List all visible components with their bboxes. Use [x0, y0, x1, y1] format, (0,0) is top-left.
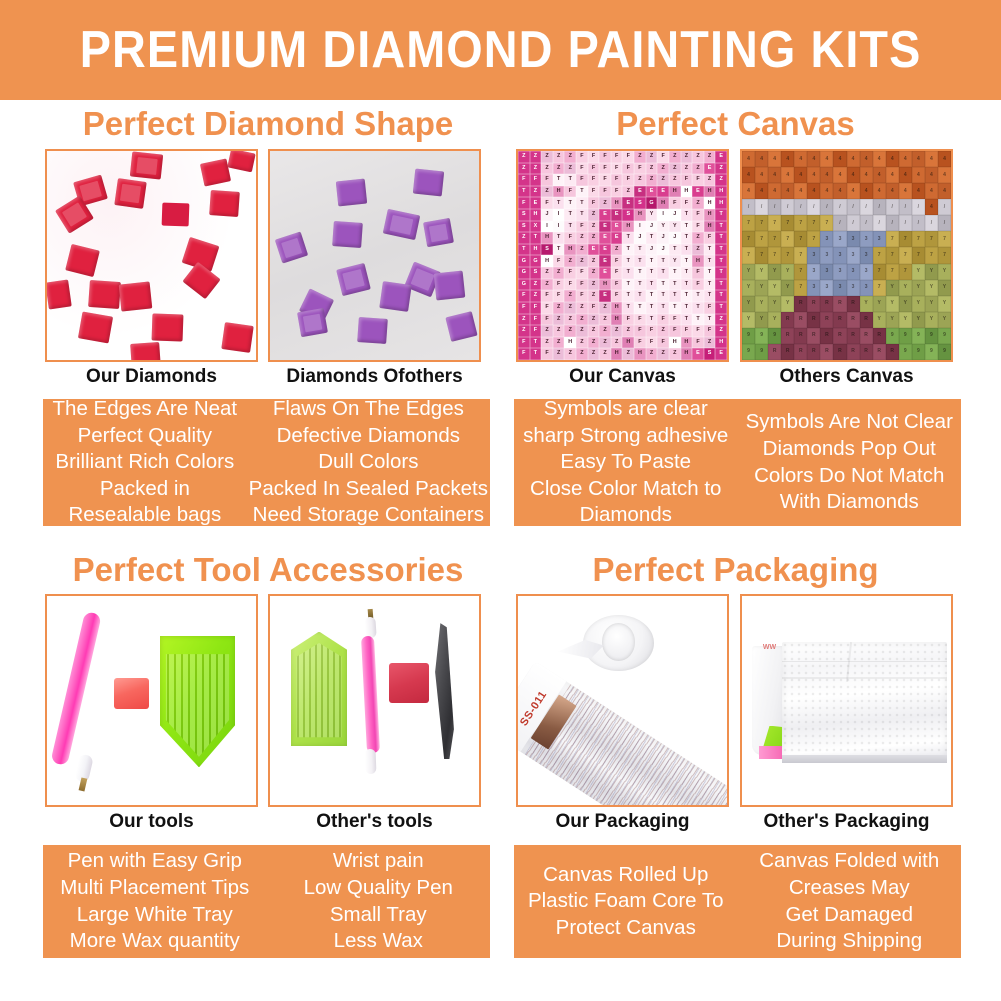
panel-line: With Diamonds	[780, 489, 919, 516]
canvas-symbol-cell: F	[611, 267, 623, 279]
pink-symbol-canvas-photo: ZZZZZFFFFFZZFZZZZEZZZZZFFFFFFZZZZZEZFFFT…	[518, 151, 727, 360]
caption-other-tools: Other's tools	[268, 811, 481, 833]
canvas-symbol-cell: Z	[530, 290, 542, 302]
canvas-symbol-cell: Z	[518, 151, 530, 163]
canvas-symbol-cell: H	[611, 348, 623, 360]
canvas-symbol-cell: F	[530, 174, 542, 186]
canvas-symbol-cell: 3	[847, 264, 860, 280]
canvas-symbol-cell: 3	[807, 247, 820, 263]
canvas-symbol-cell: Y	[925, 312, 938, 328]
canvas-symbol-cell: F	[541, 290, 553, 302]
canvas-symbol-cell: J	[541, 209, 553, 221]
canvas-symbol-cell: E	[715, 348, 727, 360]
canvas-symbol-cell: 4	[820, 151, 833, 167]
caption-our-tools: Our tools	[45, 811, 258, 833]
canvas-symbol-cell: Z	[646, 348, 658, 360]
canvas-symbol-cell: Y	[669, 221, 681, 233]
canvas-symbol-cell: Y	[755, 312, 768, 328]
canvas-symbol-cell: F	[553, 279, 565, 291]
canvas-symbol-cell: /	[833, 215, 846, 231]
canvas-symbol-cell: 7	[755, 247, 768, 263]
canvas-symbol-cell: Y	[938, 280, 951, 296]
canvas-symbol-cell: T	[646, 232, 658, 244]
panel-line: Need Storage Containers	[253, 502, 484, 529]
canvas-symbol-cell: H	[622, 221, 634, 233]
canvas-symbol-cell: F	[541, 302, 553, 314]
canvas-symbol-cell: 4	[860, 151, 873, 167]
canvas-symbol-cell: H	[564, 337, 576, 349]
canvas-symbol-cell: Y	[742, 264, 755, 280]
canvas-symbol-cell: Z	[541, 163, 553, 175]
panel-line: Wrist pain	[333, 848, 424, 875]
canvas-symbol-cell: T	[715, 279, 727, 291]
canvas-symbol-cell: E	[704, 163, 716, 175]
canvas-symbol-cell: T	[646, 314, 658, 326]
canvas-symbol-cell: F	[553, 290, 565, 302]
panel-line: During Shipping	[776, 928, 922, 955]
canvas-symbol-cell: 9	[768, 328, 781, 344]
canvas-symbol-cell: T	[669, 290, 681, 302]
canvas-symbol-cell: 3	[807, 264, 820, 280]
canvas-symbol-cell: T	[564, 197, 576, 209]
canvas-symbol-cell: 3	[860, 280, 873, 296]
canvas-symbol-cell: T	[715, 267, 727, 279]
canvas-symbol-cell: F	[692, 279, 704, 291]
canvas-symbol-cell: F	[588, 174, 600, 186]
canvas-symbol-cell: 3	[833, 247, 846, 263]
canvas-symbol-cell: T	[564, 221, 576, 233]
canvas-symbol-cell: Y	[768, 264, 781, 280]
canvas-symbol-cell: T	[657, 267, 669, 279]
canvas-symbol-cell: T	[657, 302, 669, 314]
canvas-symbol-cell: T	[646, 302, 658, 314]
canvas-symbol-cell: 4	[873, 183, 886, 199]
canvas-symbol-cell: 4	[742, 183, 755, 199]
canvas-symbol-cell: 3	[860, 247, 873, 263]
canvas-symbol-cell: 4	[873, 151, 886, 167]
canvas-symbol-cell: 7	[742, 215, 755, 231]
canvas-symbol-cell: H	[704, 221, 716, 233]
canvas-symbol-cell: T	[646, 279, 658, 291]
canvas-symbol-cell: H	[681, 186, 693, 198]
canvas-symbol-cell: F	[576, 163, 588, 175]
canvas-symbol-cell: H	[704, 209, 716, 221]
canvas-symbol-cell: T	[704, 267, 716, 279]
canvas-symbol-cell: 7	[873, 247, 886, 263]
canvas-symbol-cell: T	[622, 267, 634, 279]
canvas-symbol-cell: Z	[553, 302, 565, 314]
canvas-symbol-cell: Z	[692, 151, 704, 163]
canvas-symbol-cell: Z	[611, 337, 623, 349]
canvas-symbol-cell: Y	[873, 296, 886, 312]
canvas-symbol-cell: Z	[530, 186, 542, 198]
canvas-symbol-cell: E	[599, 221, 611, 233]
canvas-symbol-cell: /	[768, 199, 781, 215]
canvas-symbol-cell: T	[681, 302, 693, 314]
panel-diamond-shape-theirs: Flaws On The Edges Defective Diamonds Du…	[247, 399, 490, 526]
wax-square-icon	[114, 678, 150, 709]
canvas-symbol-cell: Y	[912, 264, 925, 280]
panel-line: Brilliant Rich Colors	[55, 449, 234, 476]
canvas-symbol-cell: 4	[768, 183, 781, 199]
canvas-symbol-cell: Y	[742, 280, 755, 296]
canvas-symbol-cell: H	[530, 209, 542, 221]
canvas-symbol-cell: Y	[781, 280, 794, 296]
canvas-symbol-cell: Y	[873, 312, 886, 328]
canvas-symbol-cell: F	[576, 279, 588, 291]
canvas-symbol-cell: 7	[768, 215, 781, 231]
canvas-symbol-cell: F	[611, 174, 623, 186]
panel-tools-ours: Pen with Easy Grip Multi Placement Tips …	[43, 845, 267, 958]
canvas-symbol-cell: Z	[553, 314, 565, 326]
canvas-symbol-cell: 7	[899, 264, 912, 280]
canvas-symbol-cell: 3	[847, 280, 860, 296]
canvas-symbol-cell: Z	[564, 314, 576, 326]
canvas-symbol-cell: R	[820, 312, 833, 328]
panel-line: Dull Colors	[318, 449, 418, 476]
canvas-symbol-cell: Z	[588, 314, 600, 326]
canvas-symbol-cell: Z	[588, 209, 600, 221]
canvas-symbol-cell: Z	[622, 186, 634, 198]
canvas-symbol-cell: F	[588, 186, 600, 198]
canvas-symbol-cell: T	[657, 255, 669, 267]
canvas-symbol-cell: /	[925, 215, 938, 231]
canvas-symbol-cell: Z	[576, 244, 588, 256]
canvas-symbol-cell: F	[541, 348, 553, 360]
canvas-symbol-cell: F	[530, 314, 542, 326]
canvas-symbol-cell: T	[715, 290, 727, 302]
canvas-symbol-cell: 4	[847, 183, 860, 199]
canvas-symbol-cell: H	[611, 314, 623, 326]
canvas-symbol-cell: E	[611, 209, 623, 221]
canvas-symbol-cell: R	[820, 328, 833, 344]
canvas-symbol-cell: R	[847, 296, 860, 312]
canvas-symbol-cell: J	[669, 232, 681, 244]
canvas-symbol-cell: F	[669, 325, 681, 337]
image-our-canvas: ZZZZZFFFFFZZFZZZZEZZZZZFFFFFFZZZZZEZFFFT…	[516, 149, 729, 362]
canvas-symbol-cell: Y	[755, 264, 768, 280]
panel-tools-theirs: Wrist pain Low Quality Pen Small Tray Le…	[267, 845, 491, 958]
canvas-symbol-cell: 7	[794, 280, 807, 296]
canvas-symbol-cell: 9	[938, 344, 951, 360]
panel-line: The Edges Are Neat	[53, 396, 238, 423]
canvas-symbol-cell: 4	[807, 151, 820, 167]
canvas-symbol-cell: F	[564, 279, 576, 291]
canvas-symbol-cell: F	[541, 314, 553, 326]
canvas-symbol-cell: T	[681, 221, 693, 233]
canvas-symbol-cell: S	[704, 348, 716, 360]
canvas-symbol-cell: 4	[938, 151, 951, 167]
canvas-symbol-cell: F	[599, 151, 611, 163]
panel-line: Pen with Easy Grip	[68, 848, 242, 875]
canvas-symbol-cell: E	[599, 290, 611, 302]
panel-packaging-ours: Canvas Rolled Up Plastic Foam Core To Pr…	[514, 845, 738, 958]
canvas-symbol-cell: F	[599, 186, 611, 198]
canvas-symbol-cell: J	[657, 232, 669, 244]
canvas-symbol-cell: T	[646, 267, 658, 279]
canvas-symbol-cell: Z	[657, 174, 669, 186]
canvas-symbol-cell: 4	[742, 151, 755, 167]
canvas-symbol-cell: F	[611, 163, 623, 175]
canvas-symbol-cell: Z	[634, 151, 646, 163]
canvas-symbol-cell: I	[553, 209, 565, 221]
canvas-symbol-cell: G	[530, 255, 542, 267]
canvas-symbol-cell: R	[860, 312, 873, 328]
canvas-symbol-cell: F	[530, 302, 542, 314]
canvas-symbol-cell: /	[912, 199, 925, 215]
canvas-symbol-cell: Z	[588, 290, 600, 302]
canvas-symbol-cell: Z	[564, 290, 576, 302]
canvas-symbol-cell: Y	[755, 296, 768, 312]
canvas-symbol-cell: 7	[899, 231, 912, 247]
canvas-symbol-cell: F	[669, 314, 681, 326]
panel-line: Creases May	[789, 875, 910, 902]
canvas-symbol-cell: 4	[781, 183, 794, 199]
canvas-symbol-cell: Y	[925, 264, 938, 280]
canvas-symbol-cell: R	[873, 328, 886, 344]
canvas-symbol-cell: F	[622, 151, 634, 163]
canvas-symbol-cell: Z	[588, 255, 600, 267]
canvas-symbol-cell: 4	[925, 167, 938, 183]
canvas-symbol-cell: 7	[886, 264, 899, 280]
canvas-in-tube-photo: SS-011	[518, 596, 727, 805]
canvas-symbol-cell: F	[576, 174, 588, 186]
canvas-symbol-cell: T	[704, 244, 716, 256]
canvas-symbol-cell: 4	[912, 151, 925, 167]
canvas-symbol-cell: F	[518, 337, 530, 349]
canvas-symbol-cell: 3	[807, 280, 820, 296]
canvas-symbol-cell: E	[530, 197, 542, 209]
purple-square-drills-photo	[270, 151, 479, 360]
canvas-symbol-cell: Y	[742, 296, 755, 312]
canvas-symbol-cell: 7	[781, 215, 794, 231]
canvas-symbol-cell: Z	[692, 197, 704, 209]
canvas-symbol-cell: J	[669, 209, 681, 221]
canvas-symbol-cell: F	[518, 302, 530, 314]
canvas-symbol-cell: F	[564, 186, 576, 198]
canvas-symbol-cell: F	[704, 325, 716, 337]
canvas-symbol-cell: Z	[576, 314, 588, 326]
canvas-symbol-cell: F	[692, 325, 704, 337]
canvas-symbol-cell: Z	[715, 174, 727, 186]
canvas-symbol-cell: 4	[768, 151, 781, 167]
canvas-symbol-cell: 4	[886, 167, 899, 183]
canvas-symbol-cell: R	[860, 328, 873, 344]
canvas-symbol-cell: Z	[553, 163, 565, 175]
canvas-symbol-cell: E	[692, 348, 704, 360]
canvas-symbol-cell: T	[553, 244, 565, 256]
canvas-symbol-cell: T	[530, 232, 542, 244]
canvas-symbol-cell: 7	[768, 231, 781, 247]
canvas-symbol-cell: F	[692, 221, 704, 233]
canvas-symbol-cell: I	[541, 221, 553, 233]
canvas-symbol-cell: 3	[873, 231, 886, 247]
canvas-symbol-cell: F	[634, 337, 646, 349]
canvas-symbol-cell: 4	[938, 167, 951, 183]
canvas-symbol-cell: 7	[794, 247, 807, 263]
panel-line: More Wax quantity	[70, 928, 240, 955]
canvas-symbol-cell: F	[611, 290, 623, 302]
canvas-symbol-cell: Z	[611, 244, 623, 256]
canvas-symbol-cell: 7	[886, 247, 899, 263]
canvas-symbol-cell: H	[553, 186, 565, 198]
canvas-symbol-cell: Z	[622, 325, 634, 337]
canvas-symbol-cell: Y	[886, 312, 899, 328]
canvas-symbol-cell: 7	[794, 231, 807, 247]
canvas-symbol-cell: E	[657, 186, 669, 198]
canvas-symbol-cell: F	[599, 163, 611, 175]
canvas-symbol-cell: /	[873, 215, 886, 231]
canvas-symbol-cell: F	[611, 186, 623, 198]
canvas-symbol-cell: F	[692, 209, 704, 221]
canvas-symbol-cell: 4	[742, 167, 755, 183]
panel-line: Low Quality Pen	[304, 875, 453, 902]
canvas-symbol-cell: R	[807, 296, 820, 312]
canvas-symbol-cell: 9	[899, 328, 912, 344]
canvas-symbol-cell: F	[553, 255, 565, 267]
canvas-symbol-cell: T	[564, 209, 576, 221]
canvas-symbol-cell: T	[518, 186, 530, 198]
canvas-symbol-cell: 7	[755, 215, 768, 231]
canvas-symbol-cell: 7	[886, 231, 899, 247]
canvas-symbol-cell: G	[518, 267, 530, 279]
panel-line: Packed In Sealed Packets	[249, 476, 488, 503]
canvas-symbol-cell: T	[634, 244, 646, 256]
canvas-symbol-cell: E	[599, 244, 611, 256]
canvas-symbol-cell: /	[860, 199, 873, 215]
canvas-symbol-cell: F	[657, 314, 669, 326]
canvas-symbol-cell: Z	[553, 325, 565, 337]
canvas-symbol-cell: H	[704, 197, 716, 209]
canvas-symbol-cell: T	[704, 314, 716, 326]
canvas-symbol-cell: Y	[912, 312, 925, 328]
canvas-symbol-cell: T	[704, 279, 716, 291]
canvas-symbol-cell: 9	[899, 344, 912, 360]
canvas-symbol-cell: I	[553, 221, 565, 233]
canvas-symbol-cell: H	[715, 197, 727, 209]
panel-tools: Pen with Easy Grip Multi Placement Tips …	[43, 845, 490, 958]
canvas-symbol-cell: Z	[715, 314, 727, 326]
canvas-symbol-cell: 3	[820, 231, 833, 247]
canvas-symbol-cell: F	[541, 197, 553, 209]
canvas-symbol-cell: R	[807, 344, 820, 360]
canvas-symbol-cell: Y	[669, 255, 681, 267]
image-our-tools	[45, 594, 258, 807]
canvas-symbol-cell: T	[681, 290, 693, 302]
canvas-symbol-cell: 7	[807, 215, 820, 231]
canvas-symbol-cell: 7	[768, 247, 781, 263]
canvas-symbol-cell: F	[530, 325, 542, 337]
canvas-symbol-cell: Y	[768, 296, 781, 312]
canvas-symbol-cell: T	[715, 209, 727, 221]
canvas-symbol-cell: T	[518, 244, 530, 256]
canvas-symbol-cell: 9	[742, 328, 755, 344]
canvas-symbol-cell: R	[794, 296, 807, 312]
canvas-symbol-cell: Z	[518, 232, 530, 244]
canvas-symbol-cell: T	[553, 232, 565, 244]
canvas-symbol-cell: T	[530, 337, 542, 349]
bubble-mailer-icon	[782, 642, 947, 759]
canvas-symbol-cell: Z	[564, 151, 576, 163]
canvas-symbol-cell: R	[781, 312, 794, 328]
canvas-symbol-cell: T	[646, 290, 658, 302]
panel-line: Symbols Are Not Clear	[746, 409, 953, 436]
canvas-symbol-cell: 4	[899, 151, 912, 167]
canvas-symbol-cell: R	[886, 344, 899, 360]
canvas-symbol-cell: Z	[564, 302, 576, 314]
canvas-symbol-cell: 9	[938, 328, 951, 344]
canvas-symbol-cell: 7	[938, 231, 951, 247]
canvas-symbol-cell: /	[847, 199, 860, 215]
canvas-symbol-cell: Z	[646, 163, 658, 175]
canvas-symbol-cell: T	[634, 255, 646, 267]
canvas-symbol-cell: Z	[553, 337, 565, 349]
canvas-symbol-cell: G	[646, 197, 658, 209]
canvas-symbol-cell: E	[599, 255, 611, 267]
panel-line: Plastic Foam Core To	[528, 888, 724, 915]
canvas-symbol-cell: F	[681, 325, 693, 337]
canvas-symbol-cell: Y	[899, 280, 912, 296]
canvas-symbol-cell: Z	[704, 151, 716, 163]
canvas-symbol-cell: R	[781, 328, 794, 344]
canvas-symbol-cell: R	[807, 312, 820, 328]
canvas-symbol-cell: 9	[886, 328, 899, 344]
canvas-symbol-cell: E	[634, 186, 646, 198]
page-title: PREMIUM DIAMOND PAINTING KITS	[80, 20, 922, 80]
canvas-symbol-cell: Y	[899, 312, 912, 328]
canvas-symbol-cell: /	[886, 199, 899, 215]
canvas-symbol-cell: Y	[768, 280, 781, 296]
canvas-symbol-cell: Z	[541, 151, 553, 163]
canvas-symbol-cell: Z	[541, 337, 553, 349]
canvas-symbol-cell: H	[681, 337, 693, 349]
canvas-symbol-cell: Z	[646, 151, 658, 163]
canvas-symbol-cell: E	[599, 209, 611, 221]
canvas-symbol-cell: Z	[588, 279, 600, 291]
canvas-symbol-cell: E	[588, 244, 600, 256]
panel-line: Packed in	[100, 476, 190, 503]
canvas-symbol-cell: Z	[681, 151, 693, 163]
canvas-symbol-cell: Z	[541, 325, 553, 337]
canvas-symbol-cell: 4	[768, 167, 781, 183]
canvas-symbol-cell: F	[692, 174, 704, 186]
canvas-symbol-cell: 4	[820, 167, 833, 183]
canvas-symbol-cell: Z	[692, 244, 704, 256]
panel-line: Less Wax	[334, 928, 423, 955]
canvas-symbol-cell: H	[634, 209, 646, 221]
canvas-symbol-cell: Z	[681, 163, 693, 175]
canvas-symbol-cell: 4	[886, 151, 899, 167]
canvas-symbol-cell: 3	[833, 231, 846, 247]
image-our-diamonds	[45, 149, 258, 362]
canvas-symbol-cell: T	[564, 174, 576, 186]
canvas-symbol-cell: T	[634, 267, 646, 279]
canvas-symbol-cell: 7	[938, 247, 951, 263]
canvas-symbol-cell: I	[657, 209, 669, 221]
canvas-symbol-cell: 4	[925, 183, 938, 199]
canvas-symbol-cell: Y	[925, 280, 938, 296]
canvas-symbol-cell: F	[611, 151, 623, 163]
canvas-symbol-cell: 7	[912, 231, 925, 247]
canvas-symbol-cell: /	[755, 199, 768, 215]
canvas-symbol-cell: R	[794, 328, 807, 344]
canvas-symbol-cell: 4	[886, 183, 899, 199]
canvas-symbol-cell: F	[634, 163, 646, 175]
canvas-symbol-cell: R	[847, 344, 860, 360]
section-title-canvas: Perfect Canvas	[512, 105, 959, 143]
canvas-symbol-cell: /	[794, 199, 807, 215]
canvas-symbol-cell: T	[530, 348, 542, 360]
